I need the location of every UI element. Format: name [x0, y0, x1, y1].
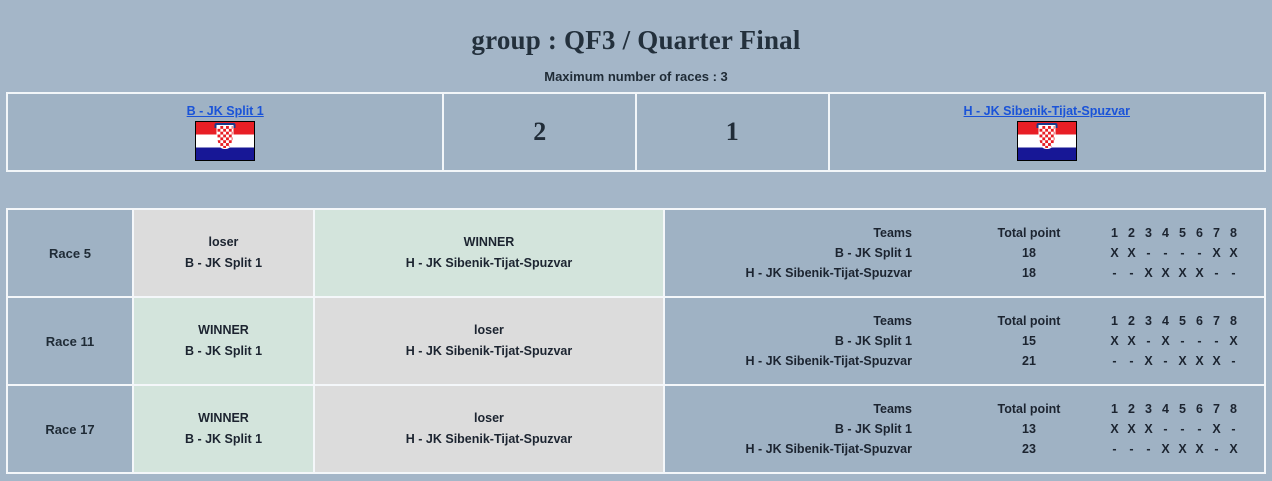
- detail-mark: -: [1157, 354, 1174, 368]
- croatia-flag-icon: [1017, 121, 1077, 161]
- race-label-cell: Race 17: [7, 385, 133, 473]
- detail-header-total-point: Total point: [964, 223, 1094, 243]
- detail-mark: -: [1140, 334, 1157, 348]
- detail-team-name: B - JK Split 1: [665, 243, 964, 263]
- detail-row: B - JK Split 118XX----XX: [665, 243, 1264, 263]
- detail-mark: -: [1208, 334, 1225, 348]
- detail-mark: -: [1123, 442, 1140, 456]
- detail-mark: -: [1174, 422, 1191, 436]
- detail-mark: -: [1174, 246, 1191, 260]
- detail-mark: X: [1123, 246, 1140, 260]
- match-score-left-cell: 2: [443, 93, 636, 171]
- detail-mark: X: [1225, 334, 1242, 348]
- outcome-verdict: loser: [315, 408, 663, 429]
- detail-mark: -: [1225, 422, 1242, 436]
- outcome-team-name: B - JK Split 1: [134, 253, 313, 274]
- detail-mark: X: [1157, 442, 1174, 456]
- race-row: Race 17WINNERB - JK Split 1loserH - JK S…: [7, 385, 1265, 473]
- detail-mark: -: [1225, 266, 1242, 280]
- detail-total-point: 13: [964, 419, 1094, 439]
- detail-mark: X: [1191, 442, 1208, 456]
- detail-column-number: 5: [1174, 226, 1191, 240]
- detail-total-point: 18: [964, 263, 1094, 283]
- detail-mark: X: [1174, 266, 1191, 280]
- detail-header-columns: 12345678: [1094, 311, 1264, 331]
- detail-mark: X: [1208, 246, 1225, 260]
- race-row: Race 5loserB - JK Split 1WINNERH - JK Si…: [7, 209, 1265, 297]
- detail-marks: ---XXX-X: [1094, 439, 1264, 459]
- detail-mark: X: [1191, 354, 1208, 368]
- score-left: 2: [533, 117, 546, 146]
- detail-column-number: 1: [1106, 314, 1123, 328]
- outcome-team-name: H - JK Sibenik-Tijat-Spuzvar: [315, 253, 663, 274]
- outcome-verdict: loser: [315, 320, 663, 341]
- detail-team-name: B - JK Split 1: [665, 331, 964, 351]
- detail-header-row: TeamsTotal point12345678: [665, 223, 1264, 243]
- detail-mark: X: [1208, 422, 1225, 436]
- detail-mark: -: [1140, 442, 1157, 456]
- match-team-right-cell: H - JK Sibenik-Tijat-Spuzvar: [829, 93, 1265, 171]
- detail-header-teams: Teams: [665, 311, 964, 331]
- detail-header-row: TeamsTotal point12345678: [665, 311, 1264, 331]
- detail-column-number: 1: [1106, 402, 1123, 416]
- detail-header-row: TeamsTotal point12345678: [665, 399, 1264, 419]
- detail-column-number: 6: [1191, 226, 1208, 240]
- croatia-flag-icon: [195, 121, 255, 161]
- detail-mark: X: [1174, 442, 1191, 456]
- detail-column-number: 7: [1208, 226, 1225, 240]
- detail-column-number: 5: [1174, 402, 1191, 416]
- race-outcome-right: WINNERH - JK Sibenik-Tijat-Spuzvar: [314, 209, 664, 297]
- detail-mark: -: [1191, 422, 1208, 436]
- detail-total-point: 15: [964, 331, 1094, 351]
- detail-header-total-point: Total point: [964, 399, 1094, 419]
- detail-mark: -: [1191, 334, 1208, 348]
- outcome-verdict: loser: [134, 232, 313, 253]
- detail-total-point: 21: [964, 351, 1094, 371]
- races-body: Race 5loserB - JK Split 1WINNERH - JK Si…: [7, 209, 1265, 473]
- detail-team-name: B - JK Split 1: [665, 419, 964, 439]
- detail-column-number: 5: [1174, 314, 1191, 328]
- detail-column-number: 4: [1157, 226, 1174, 240]
- detail-header-teams: Teams: [665, 223, 964, 243]
- detail-mark: -: [1123, 354, 1140, 368]
- match-score-table: B - JK Split 1 2 1 H - JK Sibenik-Tijat-…: [6, 92, 1266, 172]
- detail-mark: X: [1106, 334, 1123, 348]
- detail-column-number: 3: [1140, 314, 1157, 328]
- outcome-team-name: H - JK Sibenik-Tijat-Spuzvar: [315, 429, 663, 450]
- detail-mark: -: [1106, 266, 1123, 280]
- detail-mark: -: [1123, 266, 1140, 280]
- detail-row: H - JK Sibenik-Tijat-Spuzvar23---XXX-X: [665, 439, 1264, 459]
- race-label: Race 11: [46, 334, 94, 349]
- detail-column-number: 8: [1225, 226, 1242, 240]
- outcome-team-name: B - JK Split 1: [134, 429, 313, 450]
- detail-mark: X: [1123, 422, 1140, 436]
- detail-column-number: 3: [1140, 226, 1157, 240]
- detail-column-number: 2: [1123, 402, 1140, 416]
- detail-mark: -: [1208, 266, 1225, 280]
- detail-total-point: 23: [964, 439, 1094, 459]
- detail-mark: X: [1157, 334, 1174, 348]
- detail-column-number: 3: [1140, 402, 1157, 416]
- detail-column-number: 6: [1191, 314, 1208, 328]
- detail-mark: X: [1157, 266, 1174, 280]
- section-spacer: [0, 172, 1272, 208]
- race-detail-cell: TeamsTotal point12345678B - JK Split 118…: [664, 209, 1265, 297]
- detail-mark: X: [1208, 354, 1225, 368]
- race-outcome-left: loserB - JK Split 1: [133, 209, 314, 297]
- race-detail-table: TeamsTotal point12345678B - JK Split 118…: [665, 223, 1264, 283]
- detail-column-number: 4: [1157, 402, 1174, 416]
- detail-team-name: H - JK Sibenik-Tijat-Spuzvar: [665, 351, 964, 371]
- detail-team-name: H - JK Sibenik-Tijat-Spuzvar: [665, 439, 964, 459]
- race-detail-cell: TeamsTotal point12345678B - JK Split 113…: [664, 385, 1265, 473]
- detail-mark: X: [1225, 246, 1242, 260]
- detail-marks: --X-XXX-: [1094, 351, 1264, 371]
- race-detail-cell: TeamsTotal point12345678B - JK Split 115…: [664, 297, 1265, 385]
- detail-mark: -: [1191, 246, 1208, 260]
- detail-marks: --XXXX--: [1094, 263, 1264, 283]
- detail-column-number: 8: [1225, 402, 1242, 416]
- detail-mark: X: [1106, 246, 1123, 260]
- detail-row: B - JK Split 113XXX---X-: [665, 419, 1264, 439]
- detail-mark: -: [1208, 442, 1225, 456]
- match-score-right-cell: 1: [636, 93, 829, 171]
- detail-marks: XXX---X-: [1094, 419, 1264, 439]
- detail-total-point: 18: [964, 243, 1094, 263]
- detail-mark: -: [1157, 422, 1174, 436]
- detail-mark: X: [1174, 354, 1191, 368]
- race-label: Race 17: [45, 422, 94, 437]
- detail-team-name: H - JK Sibenik-Tijat-Spuzvar: [665, 263, 964, 283]
- outcome-verdict: WINNER: [315, 232, 663, 253]
- detail-mark: -: [1106, 354, 1123, 368]
- detail-column-number: 6: [1191, 402, 1208, 416]
- detail-mark: -: [1106, 442, 1123, 456]
- race-label-cell: Race 5: [7, 209, 133, 297]
- score-right: 1: [726, 117, 739, 146]
- detail-mark: X: [1140, 266, 1157, 280]
- race-outcome-left: WINNERB - JK Split 1: [133, 297, 314, 385]
- race-row: Race 11WINNERB - JK Split 1loserH - JK S…: [7, 297, 1265, 385]
- race-detail-table: TeamsTotal point12345678B - JK Split 113…: [665, 399, 1264, 459]
- detail-column-number: 7: [1208, 402, 1225, 416]
- detail-column-number: 2: [1123, 226, 1140, 240]
- detail-column-number: 7: [1208, 314, 1225, 328]
- detail-mark: X: [1106, 422, 1123, 436]
- outcome-team-name: B - JK Split 1: [134, 341, 313, 362]
- flag-shield: [217, 125, 234, 149]
- detail-mark: X: [1123, 334, 1140, 348]
- detail-row: B - JK Split 115XX-X---X: [665, 331, 1264, 351]
- race-label: Race 5: [49, 246, 91, 261]
- page-title: group : QF3 / Quarter Final: [0, 0, 1272, 56]
- team-right-link[interactable]: H - JK Sibenik-Tijat-Spuzvar: [834, 104, 1260, 118]
- detail-mark: -: [1140, 246, 1157, 260]
- detail-mark: X: [1140, 354, 1157, 368]
- detail-column-number: 1: [1106, 226, 1123, 240]
- detail-mark: X: [1140, 422, 1157, 436]
- detail-header-teams: Teams: [665, 399, 964, 419]
- match-team-left-cell: B - JK Split 1: [7, 93, 443, 171]
- outcome-team-name: H - JK Sibenik-Tijat-Spuzvar: [315, 341, 663, 362]
- detail-header-columns: 12345678: [1094, 223, 1264, 243]
- detail-mark: X: [1225, 442, 1242, 456]
- detail-marks: XX----XX: [1094, 243, 1264, 263]
- races-table: Race 5loserB - JK Split 1WINNERH - JK Si…: [6, 208, 1266, 474]
- detail-header-columns: 12345678: [1094, 399, 1264, 419]
- race-outcome-right: loserH - JK Sibenik-Tijat-Spuzvar: [314, 297, 664, 385]
- detail-mark: -: [1174, 334, 1191, 348]
- detail-row: H - JK Sibenik-Tijat-Spuzvar18--XXXX--: [665, 263, 1264, 283]
- flag-shield: [1038, 125, 1055, 149]
- race-label-cell: Race 11: [7, 297, 133, 385]
- max-races-label: Maximum number of races : 3: [0, 69, 1272, 84]
- outcome-verdict: WINNER: [134, 408, 313, 429]
- race-outcome-right: loserH - JK Sibenik-Tijat-Spuzvar: [314, 385, 664, 473]
- detail-column-number: 2: [1123, 314, 1140, 328]
- outcome-verdict: WINNER: [134, 320, 313, 341]
- team-left-link[interactable]: B - JK Split 1: [12, 104, 438, 118]
- detail-column-number: 4: [1157, 314, 1174, 328]
- race-outcome-left: WINNERB - JK Split 1: [133, 385, 314, 473]
- detail-mark: -: [1225, 354, 1242, 368]
- race-detail-table: TeamsTotal point12345678B - JK Split 115…: [665, 311, 1264, 371]
- detail-row: H - JK Sibenik-Tijat-Spuzvar21--X-XXX-: [665, 351, 1264, 371]
- detail-mark: X: [1191, 266, 1208, 280]
- page-root: group : QF3 / Quarter Final Maximum numb…: [0, 0, 1272, 474]
- match-score-row: B - JK Split 1 2 1 H - JK Sibenik-Tijat-…: [7, 93, 1265, 171]
- detail-header-total-point: Total point: [964, 311, 1094, 331]
- detail-column-number: 8: [1225, 314, 1242, 328]
- detail-marks: XX-X---X: [1094, 331, 1264, 351]
- detail-mark: -: [1157, 246, 1174, 260]
